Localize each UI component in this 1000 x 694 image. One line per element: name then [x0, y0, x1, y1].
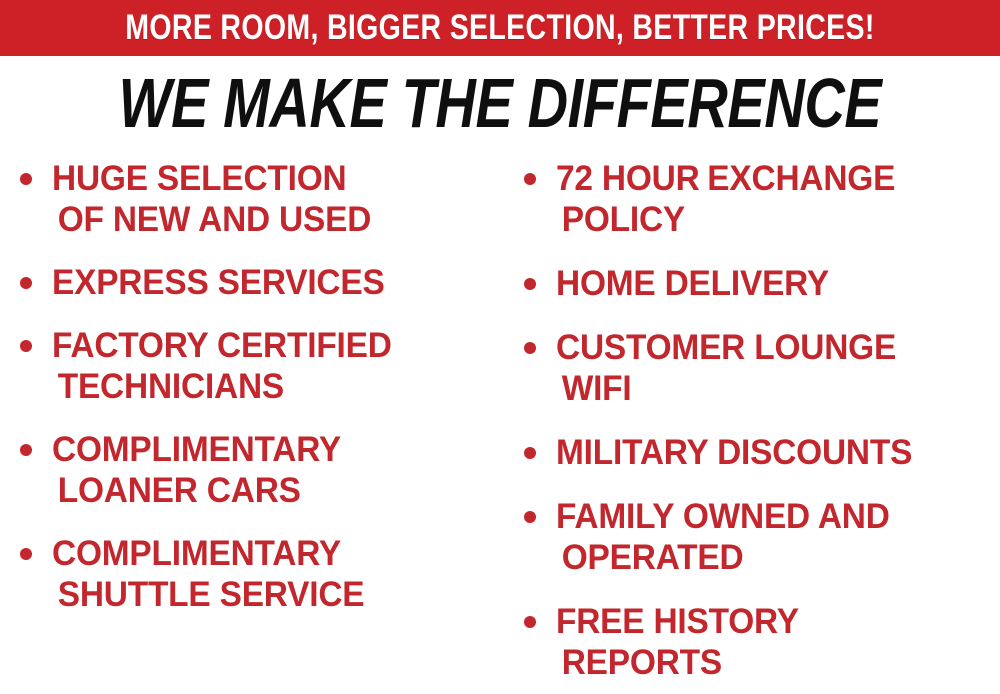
bullet-dot-icon: [20, 444, 32, 456]
benefits-columns: HUGE SELECTION OF NEW AND USED EXPRESS S…: [0, 158, 1000, 694]
list-item-line-1: FACTORY CERTIFIED: [52, 325, 486, 366]
bullet-dot-icon: [20, 277, 32, 289]
bullet-dot-icon: [524, 173, 536, 185]
list-item-line-1b: EXCHANGE: [707, 159, 895, 198]
list-item-line-1: 72 HOUR EXCHANGE: [556, 158, 980, 199]
list-item: COMPLIMENTARY SHUTTLE SERVICE: [14, 533, 506, 615]
bullet-dot-icon: [524, 616, 536, 628]
list-item-line-2: LOANER CARS: [52, 470, 486, 511]
list-item: EXPRESS SERVICES: [14, 262, 506, 303]
list-item: HUGE SELECTION OF NEW AND USED: [14, 158, 506, 240]
headline-text: WE MAKE THE DIFFERENCE: [100, 66, 900, 140]
bullet-dot-icon: [20, 340, 32, 352]
benefits-column-right: 72 HOUR EXCHANGE POLICY HOME DELIVERY CU…: [518, 158, 1000, 694]
list-item-line-1: CUSTOMER LOUNGE: [556, 327, 980, 368]
tagline-text: MORE ROOM, BIGGER SELECTION, BETTER PRIC…: [93, 0, 908, 56]
bullet-dot-icon: [524, 342, 536, 354]
list-item-line-2: WIFI: [556, 368, 980, 409]
list-item: FACTORY CERTIFIED TECHNICIANS: [14, 325, 506, 407]
list-item-line-1a: 72 HOUR: [556, 159, 700, 198]
bullet-dot-icon: [20, 173, 32, 185]
list-item-line-2: OF NEW AND USED: [52, 199, 486, 240]
list-item-line-2: REPORTS: [556, 642, 980, 683]
promotional-banner: MORE ROOM, BIGGER SELECTION, BETTER PRIC…: [0, 0, 1000, 694]
list-item-line-1: COMPLIMENTARY: [52, 533, 486, 574]
list-item: HOME DELIVERY: [518, 263, 1000, 304]
list-item: FREE HISTORY REPORTS: [518, 601, 1000, 683]
list-item-line-1: HUGE SELECTION: [52, 158, 486, 199]
list-item-line-2: TECHNICIANS: [52, 366, 486, 407]
list-item-line-1: EXPRESS SERVICES: [52, 262, 486, 303]
bullet-dot-icon: [20, 548, 32, 560]
list-item: COMPLIMENTARY LOANER CARS: [14, 429, 506, 511]
tagline-strip: MORE ROOM, BIGGER SELECTION, BETTER PRIC…: [0, 0, 1000, 56]
list-item-line-2: OPERATED: [556, 537, 980, 578]
list-item-line-2: POLICY: [556, 199, 980, 240]
list-item-line-1: FREE HISTORY: [556, 601, 980, 642]
list-item: 72 HOUR EXCHANGE POLICY: [518, 158, 1000, 240]
bullet-dot-icon: [524, 511, 536, 523]
list-item-line-1: COMPLIMENTARY: [52, 429, 486, 470]
benefits-column-left: HUGE SELECTION OF NEW AND USED EXPRESS S…: [14, 158, 506, 694]
list-item-line-1: HOME DELIVERY: [556, 263, 980, 304]
list-item-line-2: SHUTTLE SERVICE: [52, 574, 486, 615]
list-item: MILITARY DISCOUNTS: [518, 432, 1000, 473]
list-item-line-1: FAMILY OWNED AND: [556, 496, 980, 537]
list-item-line-1: MILITARY DISCOUNTS: [556, 432, 980, 473]
bullet-dot-icon: [524, 447, 536, 459]
list-item: CUSTOMER LOUNGE WIFI: [518, 327, 1000, 409]
list-item: FAMILY OWNED AND OPERATED: [518, 496, 1000, 578]
bullet-dot-icon: [524, 278, 536, 290]
